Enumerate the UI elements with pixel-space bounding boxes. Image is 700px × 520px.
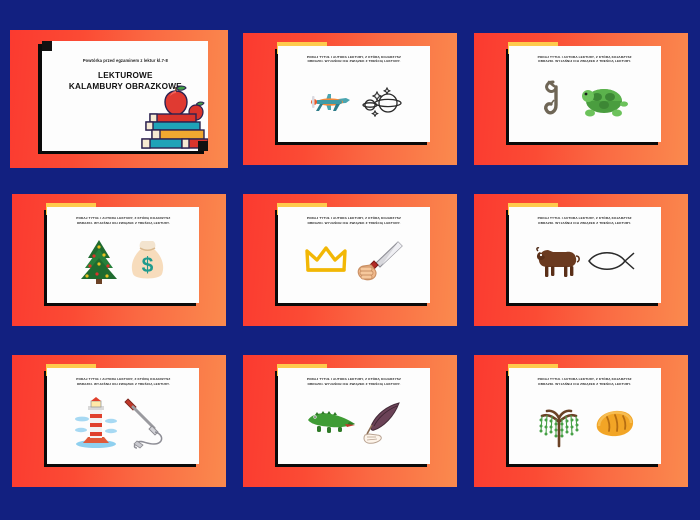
slide-cell-5: PODAJ TYTUŁ I AUTORA LEKTURY, Z KTÓRĄ KO… (237, 183, 464, 336)
quiz-prompt: PODAJ TYTUŁ I AUTORA LEKTURY, Z KTÓRĄ KO… (292, 377, 416, 387)
quiz-slide-3[interactable]: PODAJ TYTUŁ I AUTORA LEKTURY, Z KTÓRĄ KO… (509, 46, 661, 142)
slide-cell-7: PODAJ TYTUŁ I AUTORA LEKTURY, Z KTÓRĄ KO… (6, 345, 233, 498)
quiz-images (278, 64, 430, 141)
slide-cell-2: PODAJ TYTUŁ I AUTORA LEKTURY, Z KTÓRĄ KO… (237, 22, 464, 175)
bison-icon (535, 242, 581, 280)
slide-card-7[interactable]: PODAJ TYTUŁ I AUTORA LEKTURY, Z KTÓRĄ KO… (12, 355, 226, 487)
slide-cell-6: PODAJ TYTUŁ I AUTORA LEKTURY, Z KTÓRĄ KO… (467, 183, 694, 336)
harpoon-icon (124, 397, 172, 449)
quiz-images (509, 64, 661, 141)
quiz-prompt: PODAJ TYTUŁ I AUTORA LEKTURY, Z KTÓRĄ KO… (61, 377, 185, 387)
quiz-slide-2[interactable]: PODAJ TYTUŁ I AUTORA LEKTURY, Z KTÓRĄ KO… (278, 46, 430, 142)
lighthouse-icon (74, 397, 118, 449)
books-and-apple-icon (134, 83, 208, 151)
quiz-slide-8[interactable]: PODAJ TYTUŁ I AUTORA LEKTURY, Z KTÓRĄ KO… (278, 368, 430, 464)
quiz-prompt: PODAJ TYTUŁ I AUTORA LEKTURY, Z KTÓRĄ KO… (523, 55, 647, 65)
slide-card-4[interactable]: PODAJ TYTUŁ I AUTORA LEKTURY, Z KTÓRĄ KO… (12, 194, 226, 326)
hand-with-knife-icon (354, 239, 404, 283)
crown-icon (304, 244, 348, 278)
quiz-images (278, 226, 430, 303)
slide-cell-1: Powtórka przed egzaminem z lektur kl.7-8… (6, 22, 233, 175)
slide-cell-9: PODAJ TYTUŁ I AUTORA LEKTURY, Z KTÓRĄ KO… (467, 345, 694, 498)
quiz-slide-7[interactable]: PODAJ TYTUŁ I AUTORA LEKTURY, Z KTÓRĄ KO… (47, 368, 199, 464)
turtle-icon (577, 82, 629, 118)
slide-card-5[interactable]: PODAJ TYTUŁ I AUTORA LEKTURY, Z KTÓRĄ KO… (243, 194, 457, 326)
fish-outline-icon (587, 248, 635, 274)
svg-text:$: $ (142, 254, 154, 277)
slide-card-3[interactable]: PODAJ TYTUŁ I AUTORA LEKTURY, Z KTÓRĄ KO… (474, 33, 688, 165)
corner-marker-top-left (42, 41, 52, 51)
quiz-prompt: PODAJ TYTUŁ I AUTORA LEKTURY, Z KTÓRĄ KO… (292, 55, 416, 65)
planet-and-stars-icon (360, 83, 402, 117)
money-bag-icon: $ (127, 238, 169, 284)
title-subtitle: Powtórka przed egzaminem z lektur kl.7-8 (83, 58, 168, 63)
title-line-1: LEKTUROWE (69, 70, 182, 82)
fishing-hook-icon (541, 79, 571, 121)
slide-cell-3: PODAJ TYTUŁ I AUTORA LEKTURY, Z KTÓRĄ KO… (467, 22, 694, 175)
quiz-prompt: PODAJ TYTUŁ I AUTORA LEKTURY, Z KTÓRĄ KO… (292, 216, 416, 226)
quiz-slide-4[interactable]: PODAJ TYTUŁ I AUTORA LEKTURY, Z KTÓRĄ KO… (47, 207, 199, 303)
quiz-images (509, 226, 661, 303)
slide-card-2[interactable]: PODAJ TYTUŁ I AUTORA LEKTURY, Z KTÓRĄ KO… (243, 33, 457, 165)
quiz-prompt: PODAJ TYTUŁ I AUTORA LEKTURY, Z KTÓRĄ KO… (523, 377, 647, 387)
corner-marker-bottom-right (198, 141, 208, 151)
quiz-prompt: PODAJ TYTUŁ I AUTORA LEKTURY, Z KTÓRĄ KO… (523, 216, 647, 226)
quiz-images (509, 387, 661, 464)
willow-tree-icon (533, 398, 585, 448)
quiz-slide-6[interactable]: PODAJ TYTUŁ I AUTORA LEKTURY, Z KTÓRĄ KO… (509, 207, 661, 303)
quiz-images (47, 387, 199, 464)
slide-card-9[interactable]: PODAJ TYTUŁ I AUTORA LEKTURY, Z KTÓRĄ KO… (474, 355, 688, 487)
slide-grid: Powtórka przed egzaminem z lektur kl.7-8… (0, 0, 700, 520)
slide-card-6[interactable]: PODAJ TYTUŁ I AUTORA LEKTURY, Z KTÓRĄ KO… (474, 194, 688, 326)
quiz-slide-5[interactable]: PODAJ TYTUŁ I AUTORA LEKTURY, Z KTÓRĄ KO… (278, 207, 430, 303)
christmas-tree-icon (77, 238, 121, 284)
quill-pen-icon (363, 401, 403, 445)
slide-card-1[interactable]: Powtórka przed egzaminem z lektur kl.7-8… (10, 30, 228, 168)
slide-cell-8: PODAJ TYTUŁ I AUTORA LEKTURY, Z KTÓRĄ KO… (237, 345, 464, 498)
title-slide[interactable]: Powtórka przed egzaminem z lektur kl.7-8… (42, 41, 208, 151)
quiz-slide-9[interactable]: PODAJ TYTUŁ I AUTORA LEKTURY, Z KTÓRĄ KO… (509, 368, 661, 464)
quiz-prompt: PODAJ TYTUŁ I AUTORA LEKTURY, Z KTÓRĄ KO… (61, 216, 185, 226)
quiz-images (278, 387, 430, 464)
slide-cell-4: PODAJ TYTUŁ I AUTORA LEKTURY, Z KTÓRĄ KO… (6, 183, 233, 336)
quiz-images: $ (47, 226, 199, 303)
airplane-icon (306, 83, 354, 117)
crocodile-icon (305, 408, 357, 438)
bread-loaf-icon (591, 406, 637, 440)
slide-card-8[interactable]: PODAJ TYTUŁ I AUTORA LEKTURY, Z KTÓRĄ KO… (243, 355, 457, 487)
